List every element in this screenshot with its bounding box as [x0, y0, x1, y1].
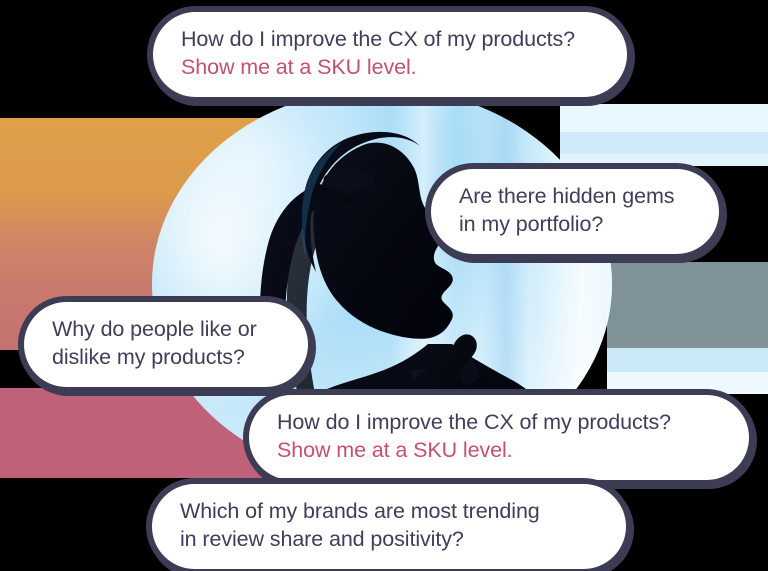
bubble-hidden-gems-line2: in my portfolio?	[459, 210, 674, 238]
decor-block-gray-blue	[607, 262, 768, 348]
bubble-cx-middle[interactable]: How do I improve the CX of my products? …	[243, 389, 755, 486]
bubble-why-like-dislike[interactable]: Why do people like or dislike my product…	[18, 296, 314, 393]
bubble-brands-trending-text: Which of my brands are most trending in …	[180, 497, 540, 554]
bubble-cx-top-line1: How do I improve the CX of my products?	[181, 25, 575, 53]
bubble-why-text: Why do people like or dislike my product…	[52, 315, 257, 372]
bubble-hidden-gems-line1: Are there hidden gems	[459, 182, 674, 210]
bubble-hidden-gems-text: Are there hidden gems in my portfolio?	[459, 182, 674, 239]
bubble-cx-middle-line2: Show me at a SKU level.	[277, 436, 671, 464]
bubble-cx-top-text: How do I improve the CX of my products? …	[181, 25, 575, 82]
bubble-cx-middle-text: How do I improve the CX of my products? …	[277, 408, 671, 465]
bubble-cx-middle-line1: How do I improve the CX of my products?	[277, 408, 671, 436]
bubble-hidden-gems[interactable]: Are there hidden gems in my portfolio?	[425, 163, 725, 260]
bubble-brands-trending-line1: Which of my brands are most trending	[180, 497, 540, 525]
decor-band-light-blue-bottom	[607, 348, 768, 372]
bubble-brands-trending-line2: in review share and positivity?	[180, 525, 540, 553]
bubble-why-line2: dislike my products?	[52, 343, 257, 371]
bubble-cx-top-line2: Show me at a SKU level.	[181, 53, 575, 81]
bubble-why-line1: Why do people like or	[52, 315, 257, 343]
bubble-brands-trending[interactable]: Which of my brands are most trending in …	[146, 478, 632, 571]
composition-canvas: How do I improve the CX of my products? …	[0, 0, 768, 571]
bubble-cx-top[interactable]: How do I improve the CX of my products? …	[147, 6, 633, 103]
